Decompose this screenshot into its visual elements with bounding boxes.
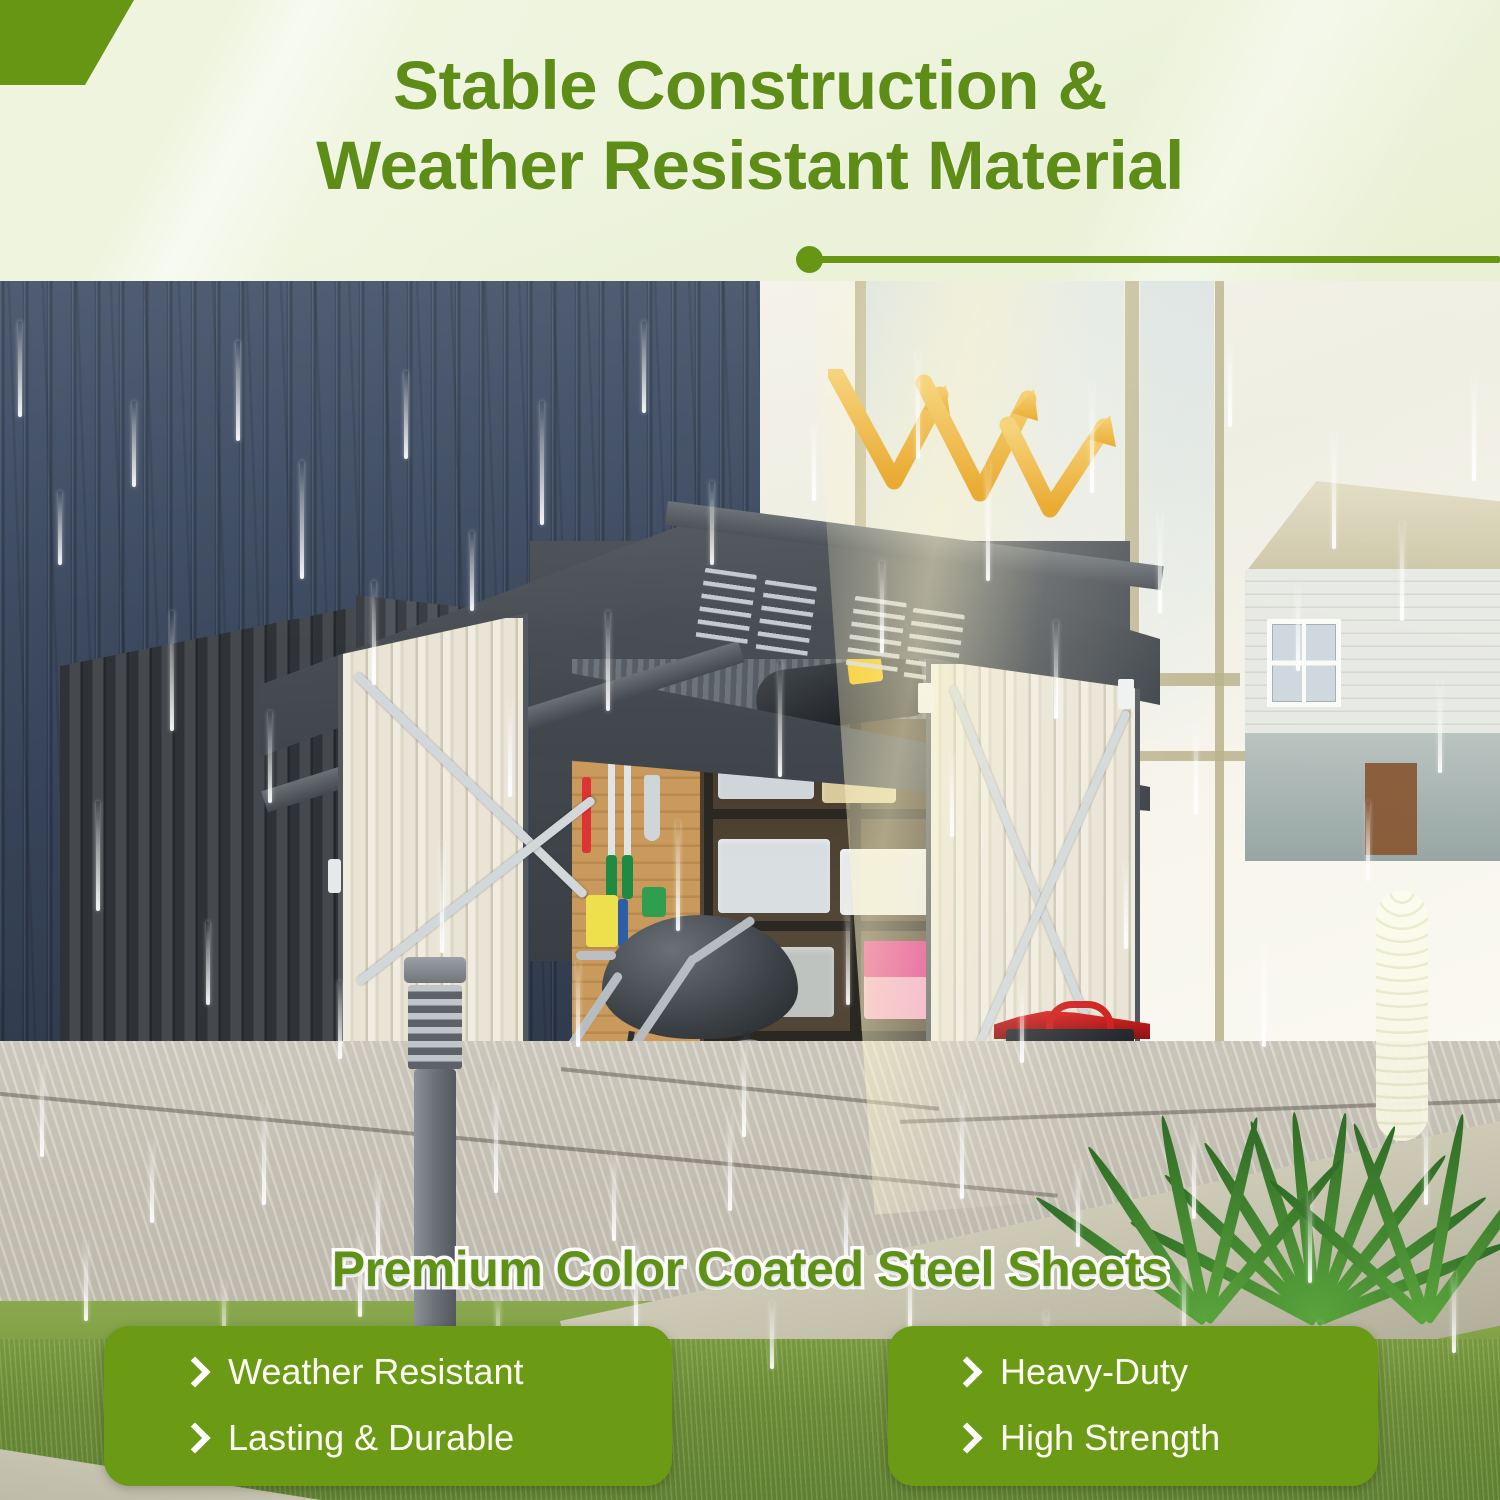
feature-label: Lasting & Durable [228, 1418, 514, 1458]
tool-handle [606, 855, 617, 899]
house-roof [1245, 481, 1500, 573]
divider-line [820, 256, 1500, 263]
product-feature-poster: Stable Construction & Weather Resistant … [0, 0, 1500, 1500]
work-glove [586, 895, 618, 947]
feature-item: Heavy-Duty [956, 1352, 1188, 1392]
feature-item: Weather Resistant [184, 1352, 523, 1392]
headline-line-2: Weather Resistant Material [0, 126, 1500, 206]
water-repel-arrows-svg [828, 369, 1128, 519]
chevron-right-icon [179, 1422, 210, 1453]
feature-item: Lasting & Durable [184, 1418, 514, 1458]
bollard-lamp [404, 957, 466, 1377]
feature-label: High Strength [1000, 1418, 1220, 1458]
feature-badge-left: Weather Resistant Lasting & Durable [104, 1326, 672, 1486]
feature-label: Weather Resistant [228, 1352, 523, 1392]
storage-bin [718, 839, 830, 913]
tool-handle [622, 855, 633, 899]
chevron-right-icon [179, 1356, 210, 1387]
header-banner: Stable Construction & Weather Resistant … [0, 0, 1500, 281]
feature-label: Heavy-Duty [1000, 1352, 1188, 1392]
bollard-cap [404, 957, 466, 983]
headline-line-1: Stable Construction & [393, 47, 1107, 124]
grill-handle [576, 951, 616, 960]
feature-badge-right: Heavy-Duty High Strength [888, 1326, 1378, 1486]
storage-bin-inner [864, 941, 936, 977]
page-title: Stable Construction & Weather Resistant … [0, 46, 1500, 206]
tool-handle [582, 777, 591, 853]
roof-vent-icon [755, 580, 817, 661]
spray-bottle [642, 887, 666, 917]
bollard-louvers [408, 985, 462, 1069]
divider-dot-icon [796, 246, 823, 273]
door-hinge [918, 683, 934, 713]
roof-vent-icon [845, 596, 907, 677]
house-window [1267, 619, 1341, 707]
background-house [1245, 481, 1500, 861]
feature-item: High Strength [956, 1418, 1220, 1458]
trowel-icon [644, 775, 660, 841]
divider [796, 252, 1500, 266]
chevron-right-icon [951, 1356, 982, 1387]
chevron-right-icon [951, 1422, 982, 1453]
roof-vent-icon [695, 568, 757, 649]
water-repel-arrows-icon [828, 369, 1128, 519]
sub-banner-title: Premium Color Coated Steel Sheets [0, 1238, 1500, 1300]
house-door [1365, 763, 1417, 855]
door-handle [328, 859, 341, 893]
shears-blade-icon [608, 749, 615, 859]
door-hinge [1118, 679, 1134, 709]
product-photo [0, 281, 1500, 1500]
flower-stalk [1376, 891, 1428, 1141]
